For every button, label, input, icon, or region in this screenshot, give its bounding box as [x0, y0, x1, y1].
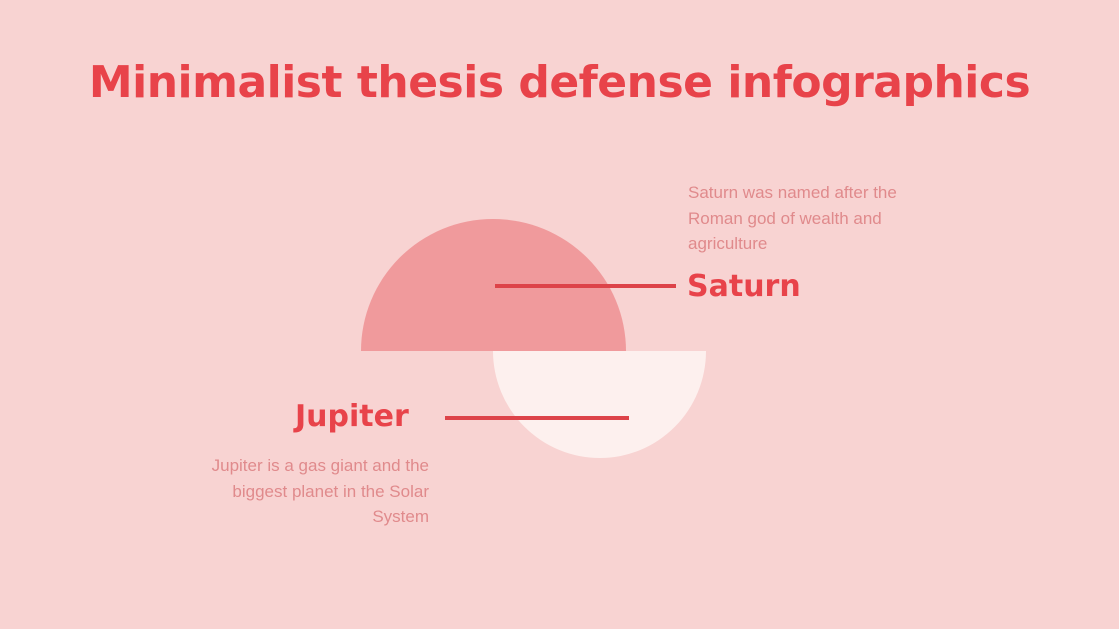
saturn-description: Saturn was named after the Roman god of … [688, 180, 948, 257]
jupiter-label: Jupiter [295, 402, 409, 432]
jupiter-half-circle-shape [493, 351, 706, 458]
jupiter-description: Jupiter is a gas giant and the biggest p… [172, 453, 429, 530]
infographic-slide: Minimalist thesis defense infographics S… [0, 0, 1119, 629]
saturn-connector-line [495, 284, 676, 288]
page-title: Minimalist thesis defense infographics [0, 61, 1119, 105]
saturn-label: Saturn [687, 272, 801, 302]
jupiter-connector-line [445, 416, 629, 420]
